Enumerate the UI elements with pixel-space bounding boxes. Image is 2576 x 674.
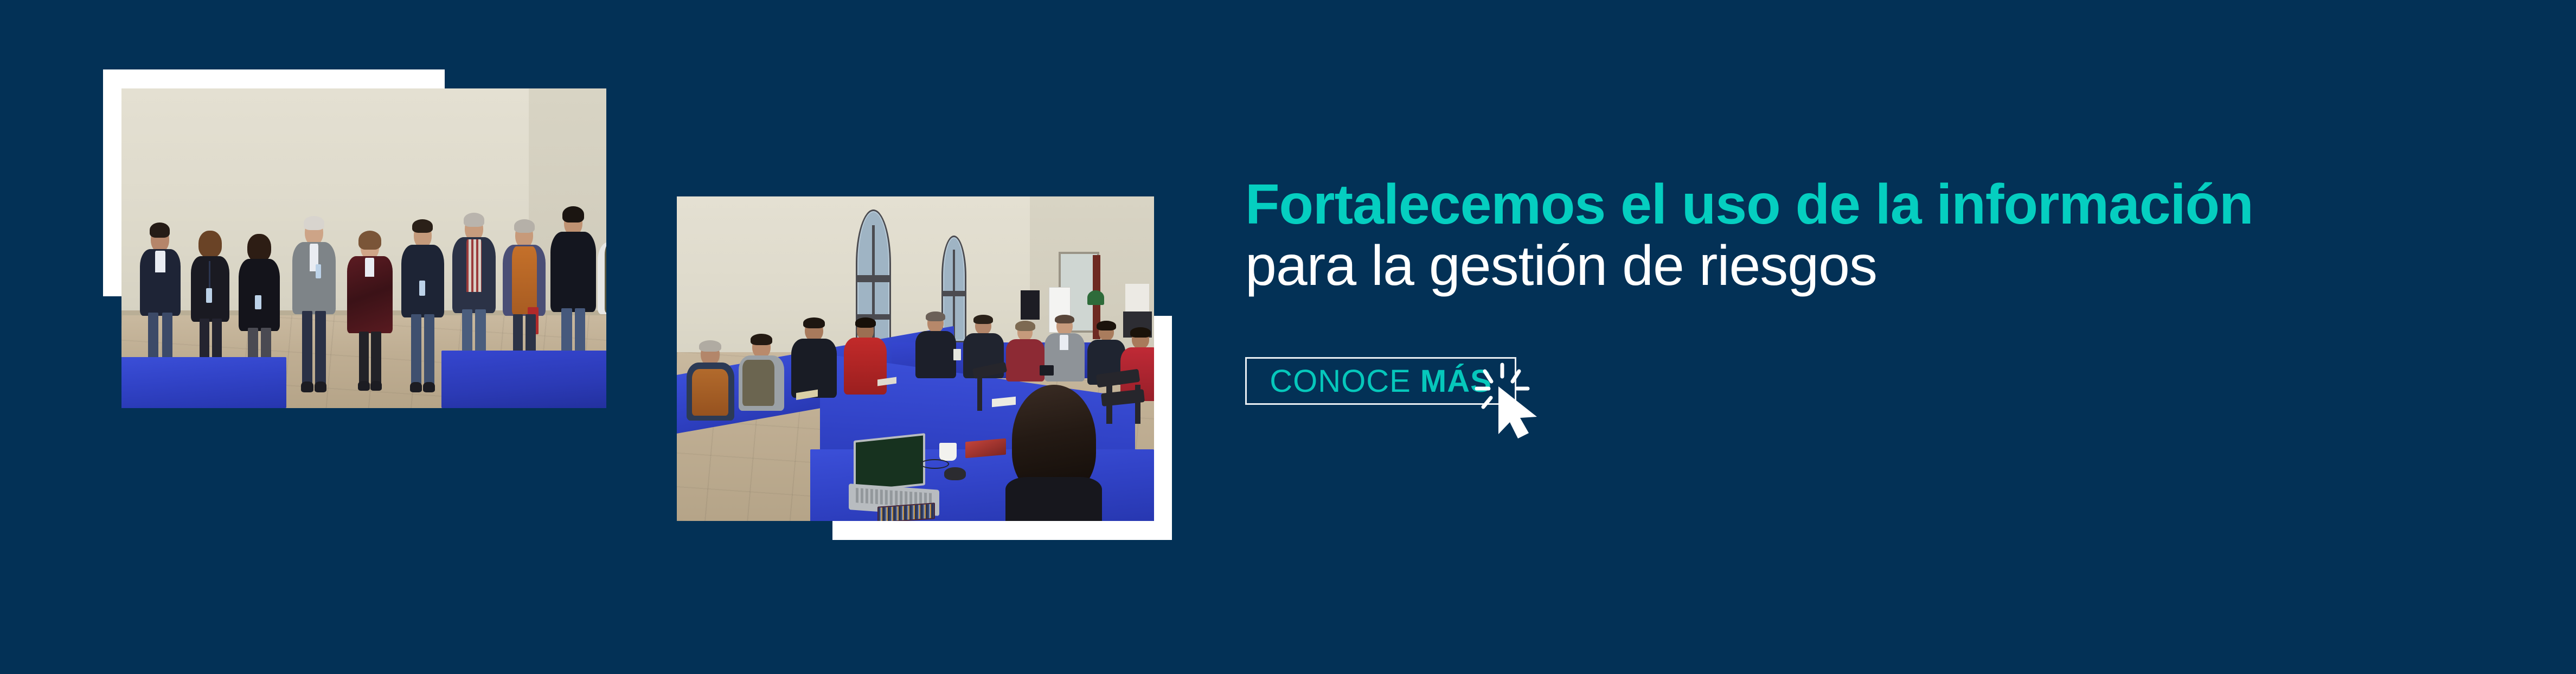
headline-line-1: Fortalecemos el uso de la información	[1245, 175, 2482, 234]
photo-collage	[0, 0, 1247, 674]
laptop-keyboard	[849, 484, 939, 516]
arched-window	[941, 236, 966, 342]
blue-table	[441, 351, 606, 408]
blue-table	[892, 342, 1120, 378]
laptop	[854, 433, 925, 493]
blue-table	[677, 326, 953, 437]
blue-table	[820, 353, 1135, 521]
magazine	[877, 503, 935, 521]
meeting-photo-white-frame	[832, 316, 1172, 540]
group-photo	[121, 88, 606, 408]
group-photo-white-frame	[103, 69, 445, 296]
arched-window	[856, 209, 891, 352]
copy-block: Fortalecemos el uso de la información pa…	[1245, 175, 2482, 298]
click-cursor-icon	[1470, 358, 1557, 440]
foreground-person	[1001, 385, 1106, 521]
blue-table	[121, 357, 286, 408]
cta-wrapper: CONOCE MÁS	[1245, 357, 1625, 422]
meeting-photo	[677, 196, 1154, 521]
headline-line-2: para la gestión de riesgos	[1245, 234, 2482, 297]
blue-table	[810, 449, 1154, 521]
paper-cup	[939, 443, 957, 461]
computer-mouse	[944, 467, 966, 480]
cta-label-regular: CONOCE	[1270, 364, 1420, 399]
door	[1059, 252, 1099, 333]
cta-button-label: CONOCE MÁS	[1270, 363, 1492, 399]
promo-banner: Fortalecemos el uso de la información pa…	[0, 0, 2576, 674]
notebook	[965, 438, 1006, 457]
